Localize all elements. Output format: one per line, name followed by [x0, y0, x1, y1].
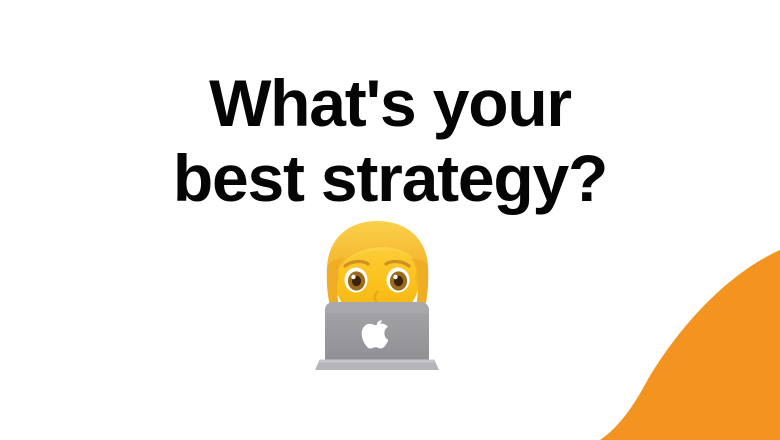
- headline-line-2: best strategy?: [0, 141, 780, 216]
- orange-corner-wave: [550, 250, 780, 440]
- headline: What's your best strategy?: [0, 66, 780, 216]
- headline-line-1: What's your: [0, 66, 780, 141]
- woman-technologist-emoji: [303, 220, 451, 370]
- emoji-laptop: [315, 302, 439, 370]
- orange-wave-path: [600, 250, 780, 440]
- slide-canvas: What's your best strategy?: [0, 0, 780, 440]
